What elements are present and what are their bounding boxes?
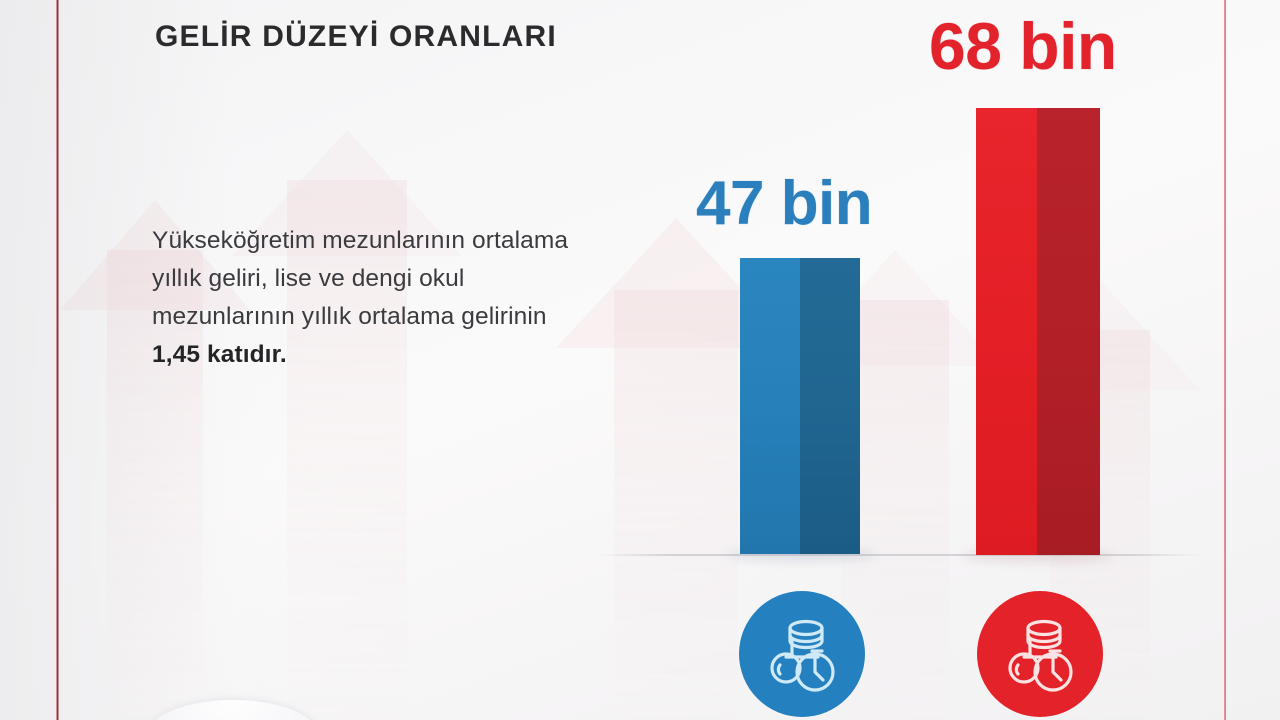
bar-face-dark — [800, 258, 860, 554]
background-arrow-up-icon — [60, 80, 250, 720]
bottom-left-decoration — [148, 700, 318, 720]
coins-clock-icon — [998, 612, 1082, 696]
description-emphasis: 1,45 katıdır. — [152, 341, 287, 368]
bar-face-light — [976, 108, 1037, 555]
bar-47[interactable] — [740, 258, 860, 554]
coins-clock-icon — [760, 612, 844, 696]
bar-68[interactable] — [976, 108, 1100, 555]
left-accent-rule — [56, 0, 59, 720]
icon-badge-68[interactable] — [977, 591, 1103, 717]
description-paragraph: Yükseköğretim mezunlarının ortalama yıll… — [152, 222, 582, 374]
bar-value-label-68: 68 bin — [929, 8, 1117, 84]
bar-value-label-47: 47 bin — [696, 168, 872, 239]
bar-face-dark — [1037, 108, 1100, 555]
page-title: GELİR DÜZEYİ ORANLARI — [155, 20, 557, 54]
infographic-slide: GELİR DÜZEYİ ORANLARI Yükseköğretim mezu… — [0, 0, 1280, 720]
description-text: Yükseköğretim mezunlarının ortalama yıll… — [152, 227, 568, 330]
icon-badge-47[interactable] — [739, 591, 865, 717]
right-accent-rule — [1224, 0, 1226, 720]
bar-face-light — [740, 258, 800, 554]
